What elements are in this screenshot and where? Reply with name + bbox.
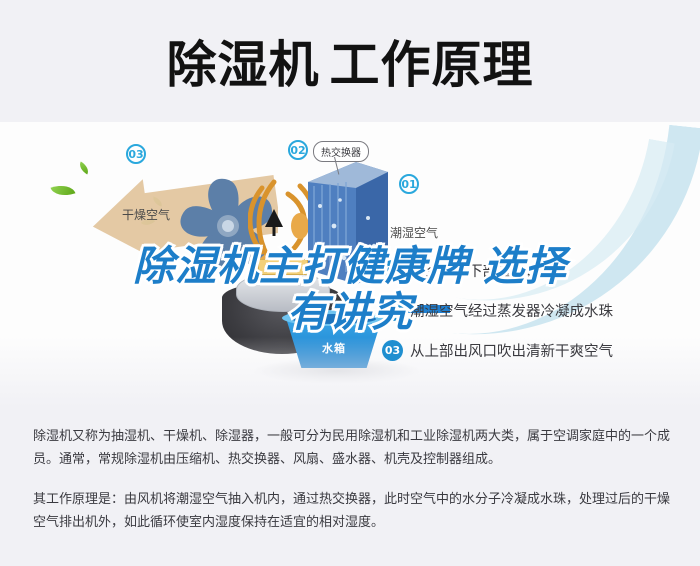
heat-exchanger-callout: 热交换器 [313,141,369,162]
page-title: 除湿机工作原理 [167,25,534,97]
step-item-02: 02 潮湿空气经过蒸发器冷凝成水珠 [382,290,682,330]
diagram-badge-01: 01 [399,174,419,194]
body-paragraph-2: 其工作原理是：由风机将潮湿空气抽入机内，通过热交换器，此时空气中的水分子冷凝成水… [33,487,673,533]
page-title-part1: 除湿机 [167,36,320,94]
step-item-03: 03 从上部出风口吹出清新干爽空气 [382,330,682,370]
step-text-01: 湿空气从下部进风口吸入 [410,260,570,281]
water-tank-rim-inner [292,314,376,324]
step-badge-02: 02 [382,300,403,321]
diagram-badge-02: 02 [288,140,308,160]
page-root: 除湿机工作原理 [0,0,700,566]
step-badge-01: 01 [382,260,403,281]
title-banner: 除湿机工作原理 [0,0,700,122]
diagram-label-dry-air: 干燥空气 [122,206,170,223]
body-paragraph-1: 除湿机又称为抽湿机、干燥机、除湿器，一般可分为民用除湿机和工业除湿机两大类，属于… [33,424,673,470]
step-text-02: 潮湿空气经过蒸发器冷凝成水珠 [410,300,613,321]
compressor-label: 压缩机 [258,259,308,275]
diagram-badge-03: 03 [126,144,146,164]
step-badge-03: 03 [382,340,403,361]
step-list: 01 湿空气从下部进风口吸入 02 潮湿空气经过蒸发器冷凝成水珠 03 从上部出… [382,250,682,370]
page-title-part2: 工作原理 [330,36,534,94]
leaf-icon [51,181,76,200]
body-copy: 除湿机又称为抽湿机、干燥机、除湿器，一般可分为民用除湿机和工业除湿机两大类，属于… [33,424,673,533]
machine-top-housing [236,272,330,312]
step-text-03: 从上部出风口吹出清新干爽空气 [410,340,613,361]
diagram-label-humid-air: 潮湿空气 [390,224,438,241]
step-item-01: 01 湿空气从下部进风口吸入 [382,250,682,290]
